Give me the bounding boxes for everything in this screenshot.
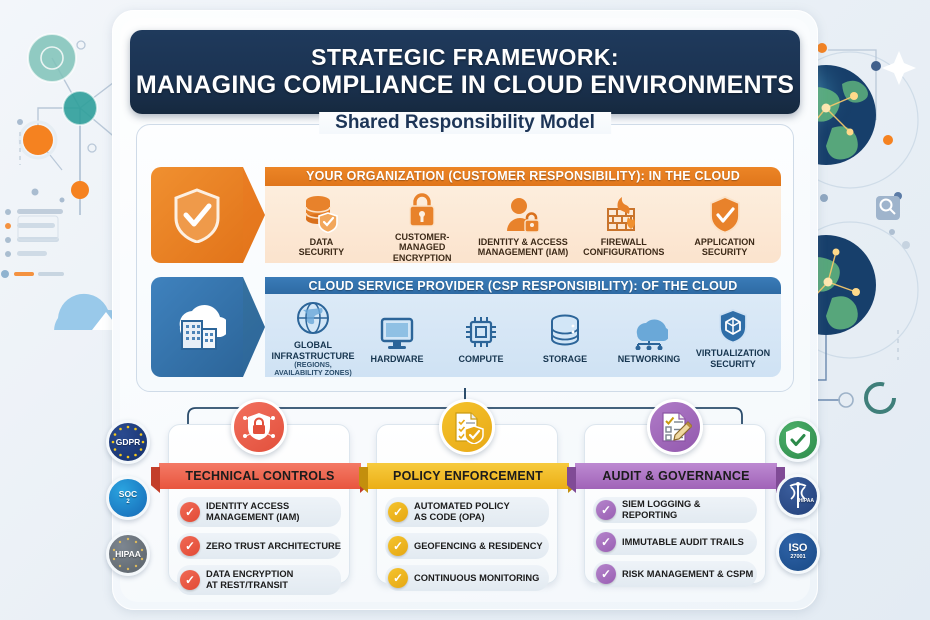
- user-lock-icon: [505, 191, 541, 233]
- database-shield-icon: [304, 191, 338, 233]
- shield-lock-network-icon: [231, 399, 287, 455]
- list-item[interactable]: ✓ IMMUTABLE AUDIT TRAILS: [593, 529, 757, 555]
- badge-label: SOC2: [119, 490, 137, 505]
- check-icon: ✓: [388, 536, 408, 556]
- provider-responsibility-band: CLOUD SERVICE PROVIDER (CSP RESPONSIBILI…: [151, 277, 781, 377]
- item-label: COMPUTE: [459, 354, 504, 364]
- gdpr-badge: GDPR: [106, 420, 150, 464]
- list-item[interactable]: ✓ SIEM LOGGING & REPORTING: [593, 497, 757, 523]
- shield-cube-icon: [718, 302, 748, 344]
- item-label: FIREWALLCONFIGURATIONS: [583, 237, 664, 258]
- badge-label: ISO27001: [789, 543, 808, 560]
- cpu-chip-icon: [464, 308, 498, 350]
- item-label: GLOBAL INFRASTRUCTURE: [271, 340, 355, 361]
- item-compute: COMPUTE: [439, 308, 523, 364]
- policy-document-shield-icon: [439, 399, 495, 455]
- list-item-label: AUTOMATED POLICYAS CODE (OPA): [414, 501, 510, 523]
- item-label: IDENTITY & ACCESSMANAGEMENT (IAM): [478, 237, 569, 258]
- badge-label: HIPAA: [799, 499, 814, 504]
- item-customer-managed-encryption: CUSTOMER-MANAGEDENCRYPTION: [372, 186, 473, 263]
- card-list: ✓ SIEM LOGGING & REPORTING ✓ IMMUTABLE A…: [593, 497, 757, 587]
- item-identity-access-management: IDENTITY & ACCESSMANAGEMENT (IAM): [473, 191, 574, 258]
- list-item[interactable]: ✓ DATA ENCRYPTIONAT REST/TRANSIT: [177, 565, 341, 595]
- stars-ring-icon: [106, 532, 150, 576]
- list-item[interactable]: ✓ CONTINUOUS MONITORING: [385, 565, 549, 591]
- list-item[interactable]: ✓ RISK MANAGEMENT & CSPM: [593, 561, 757, 587]
- shield-check-icon: [172, 187, 222, 243]
- hipaa-caduceus-badge: HIPAA: [776, 474, 820, 518]
- list-item[interactable]: ✓ AUTOMATED POLICYAS CODE (OPA): [385, 497, 549, 527]
- customer-responsibility-band: YOUR ORGANIZATION (CUSTOMER RESPONSIBILI…: [151, 167, 781, 263]
- provider-band-header: CLOUD SERVICE PROVIDER (CSP RESPONSIBILI…: [265, 277, 781, 294]
- item-label: CUSTOMER-MANAGEDENCRYPTION: [372, 232, 473, 263]
- customer-tab: [151, 167, 243, 263]
- customer-band-header: YOUR ORGANIZATION (CUSTOMER RESPONSIBILI…: [265, 167, 781, 186]
- shield-check-icon: [709, 191, 741, 233]
- check-icon: ✓: [596, 500, 616, 520]
- check-icon: ✓: [180, 536, 200, 556]
- hipaa-badge: HIPAA: [106, 532, 150, 576]
- item-label: STORAGE: [543, 354, 587, 364]
- customer-items: DATASECURITY CUSTOMER-MANAGEDENCRYPTION: [265, 186, 781, 263]
- eu-stars-ring-icon: [106, 420, 150, 464]
- item-firewall-configurations: FIREWALLCONFIGURATIONS: [573, 191, 674, 258]
- item-application-security: APPLICATIONSECURITY: [674, 191, 775, 258]
- card-audit-governance[interactable]: AUDIT & GOVERNANCE ✓ SIEM LOGGING & REPO…: [584, 424, 766, 584]
- monitor-icon: [380, 308, 414, 350]
- card-technical-controls[interactable]: TECHNICAL CONTROLS ✓ IDENTITY ACCESSMANA…: [168, 424, 350, 584]
- iso-27001-badge: ISO27001: [776, 530, 820, 574]
- list-item-label: GEOFENCING & RESIDENCY: [414, 541, 543, 552]
- check-icon: ✓: [388, 568, 408, 588]
- srm-heading: Shared Responsibility Model: [319, 112, 611, 134]
- card-policy-enforcement[interactable]: POLICY ENFORCEMENT ✓ AUTOMATED POLICYAS …: [376, 424, 558, 584]
- padlock-icon: [407, 186, 437, 228]
- item-storage: STORAGE: [523, 308, 607, 364]
- list-item-label: RISK MANAGEMENT & CSPM: [622, 569, 753, 580]
- item-networking: NETWORKING: [607, 308, 691, 364]
- item-hardware: HARDWARE: [355, 308, 439, 364]
- list-item-label: IDENTITY ACCESSMANAGEMENT (IAM): [206, 501, 299, 523]
- customer-band-body: YOUR ORGANIZATION (CUSTOMER RESPONSIBILI…: [265, 167, 781, 263]
- list-item-label: ZERO TRUST ARCHITECTURE: [206, 541, 341, 552]
- provider-items: GLOBAL INFRASTRUCTURE (REGIONS, AVAILABI…: [265, 294, 781, 377]
- title-line-1: STRATEGIC FRAMEWORK:: [311, 44, 619, 71]
- provider-band-body: CLOUD SERVICE PROVIDER (CSP RESPONSIBILI…: [265, 277, 781, 377]
- shield-check-badge: [776, 418, 820, 462]
- database-icon: [549, 308, 581, 350]
- check-icon: ✓: [596, 532, 616, 552]
- list-item-label: IMMUTABLE AUDIT TRAILS: [622, 537, 744, 548]
- shield-check-icon: [785, 426, 811, 454]
- card-list: ✓ IDENTITY ACCESSMANAGEMENT (IAM) ✓ ZERO…: [177, 497, 341, 595]
- list-item-label: DATA ENCRYPTIONAT REST/TRANSIT: [206, 569, 293, 591]
- item-label: HARDWARE: [371, 354, 424, 364]
- globe-icon: [296, 294, 330, 336]
- check-icon: ✓: [180, 570, 200, 590]
- check-icon: ✓: [388, 502, 408, 522]
- item-label: APPLICATIONSECURITY: [694, 237, 754, 258]
- card-title: POLICY ENFORCEMENT: [367, 463, 569, 489]
- card-list: ✓ AUTOMATED POLICYAS CODE (OPA) ✓ GEOFEN…: [385, 497, 549, 591]
- list-item[interactable]: ✓ IDENTITY ACCESSMANAGEMENT (IAM): [177, 497, 341, 527]
- check-icon: ✓: [180, 502, 200, 522]
- provider-tab: [151, 277, 243, 377]
- item-global-infrastructure: GLOBAL INFRASTRUCTURE (REGIONS, AVAILABI…: [271, 294, 355, 377]
- card-title: TECHNICAL CONTROLS: [159, 463, 361, 489]
- list-item[interactable]: ✓ ZERO TRUST ARCHITECTURE: [177, 533, 341, 559]
- cloud-network-icon: [630, 308, 668, 350]
- list-item-label: CONTINUOUS MONITORING: [414, 573, 539, 584]
- list-item-label: SIEM LOGGING & REPORTING: [622, 499, 757, 521]
- left-network-graphic: [0, 0, 130, 330]
- item-sublabel: (REGIONS, AVAILABILITY ZONES): [271, 361, 355, 377]
- title-line-2: MANAGING COMPLIANCE IN CLOUD ENVIRONMENT…: [136, 71, 794, 101]
- audit-checklist-pencil-icon: [647, 399, 703, 455]
- item-label: VIRTUALIZATIONSECURITY: [696, 348, 770, 369]
- card-title: AUDIT & GOVERNANCE: [575, 463, 777, 489]
- item-label: DATASECURITY: [299, 237, 345, 258]
- caduceus-icon: [785, 481, 811, 511]
- soc2-badge: SOC2: [106, 476, 150, 520]
- page-title: STRATEGIC FRAMEWORK: MANAGING COMPLIANCE…: [130, 30, 800, 114]
- firewall-flame-icon: [605, 191, 643, 233]
- item-virtualization-security: VIRTUALIZATIONSECURITY: [691, 302, 775, 369]
- item-label: NETWORKING: [618, 354, 681, 364]
- item-data-security: DATASECURITY: [271, 191, 372, 258]
- shared-responsibility-model: Shared Responsibility Model YOUR ORGANIZ…: [136, 124, 794, 392]
- check-icon: ✓: [596, 564, 616, 584]
- cloud-datacenter-icon: [168, 299, 226, 355]
- list-item[interactable]: ✓ GEOFENCING & RESIDENCY: [385, 533, 549, 559]
